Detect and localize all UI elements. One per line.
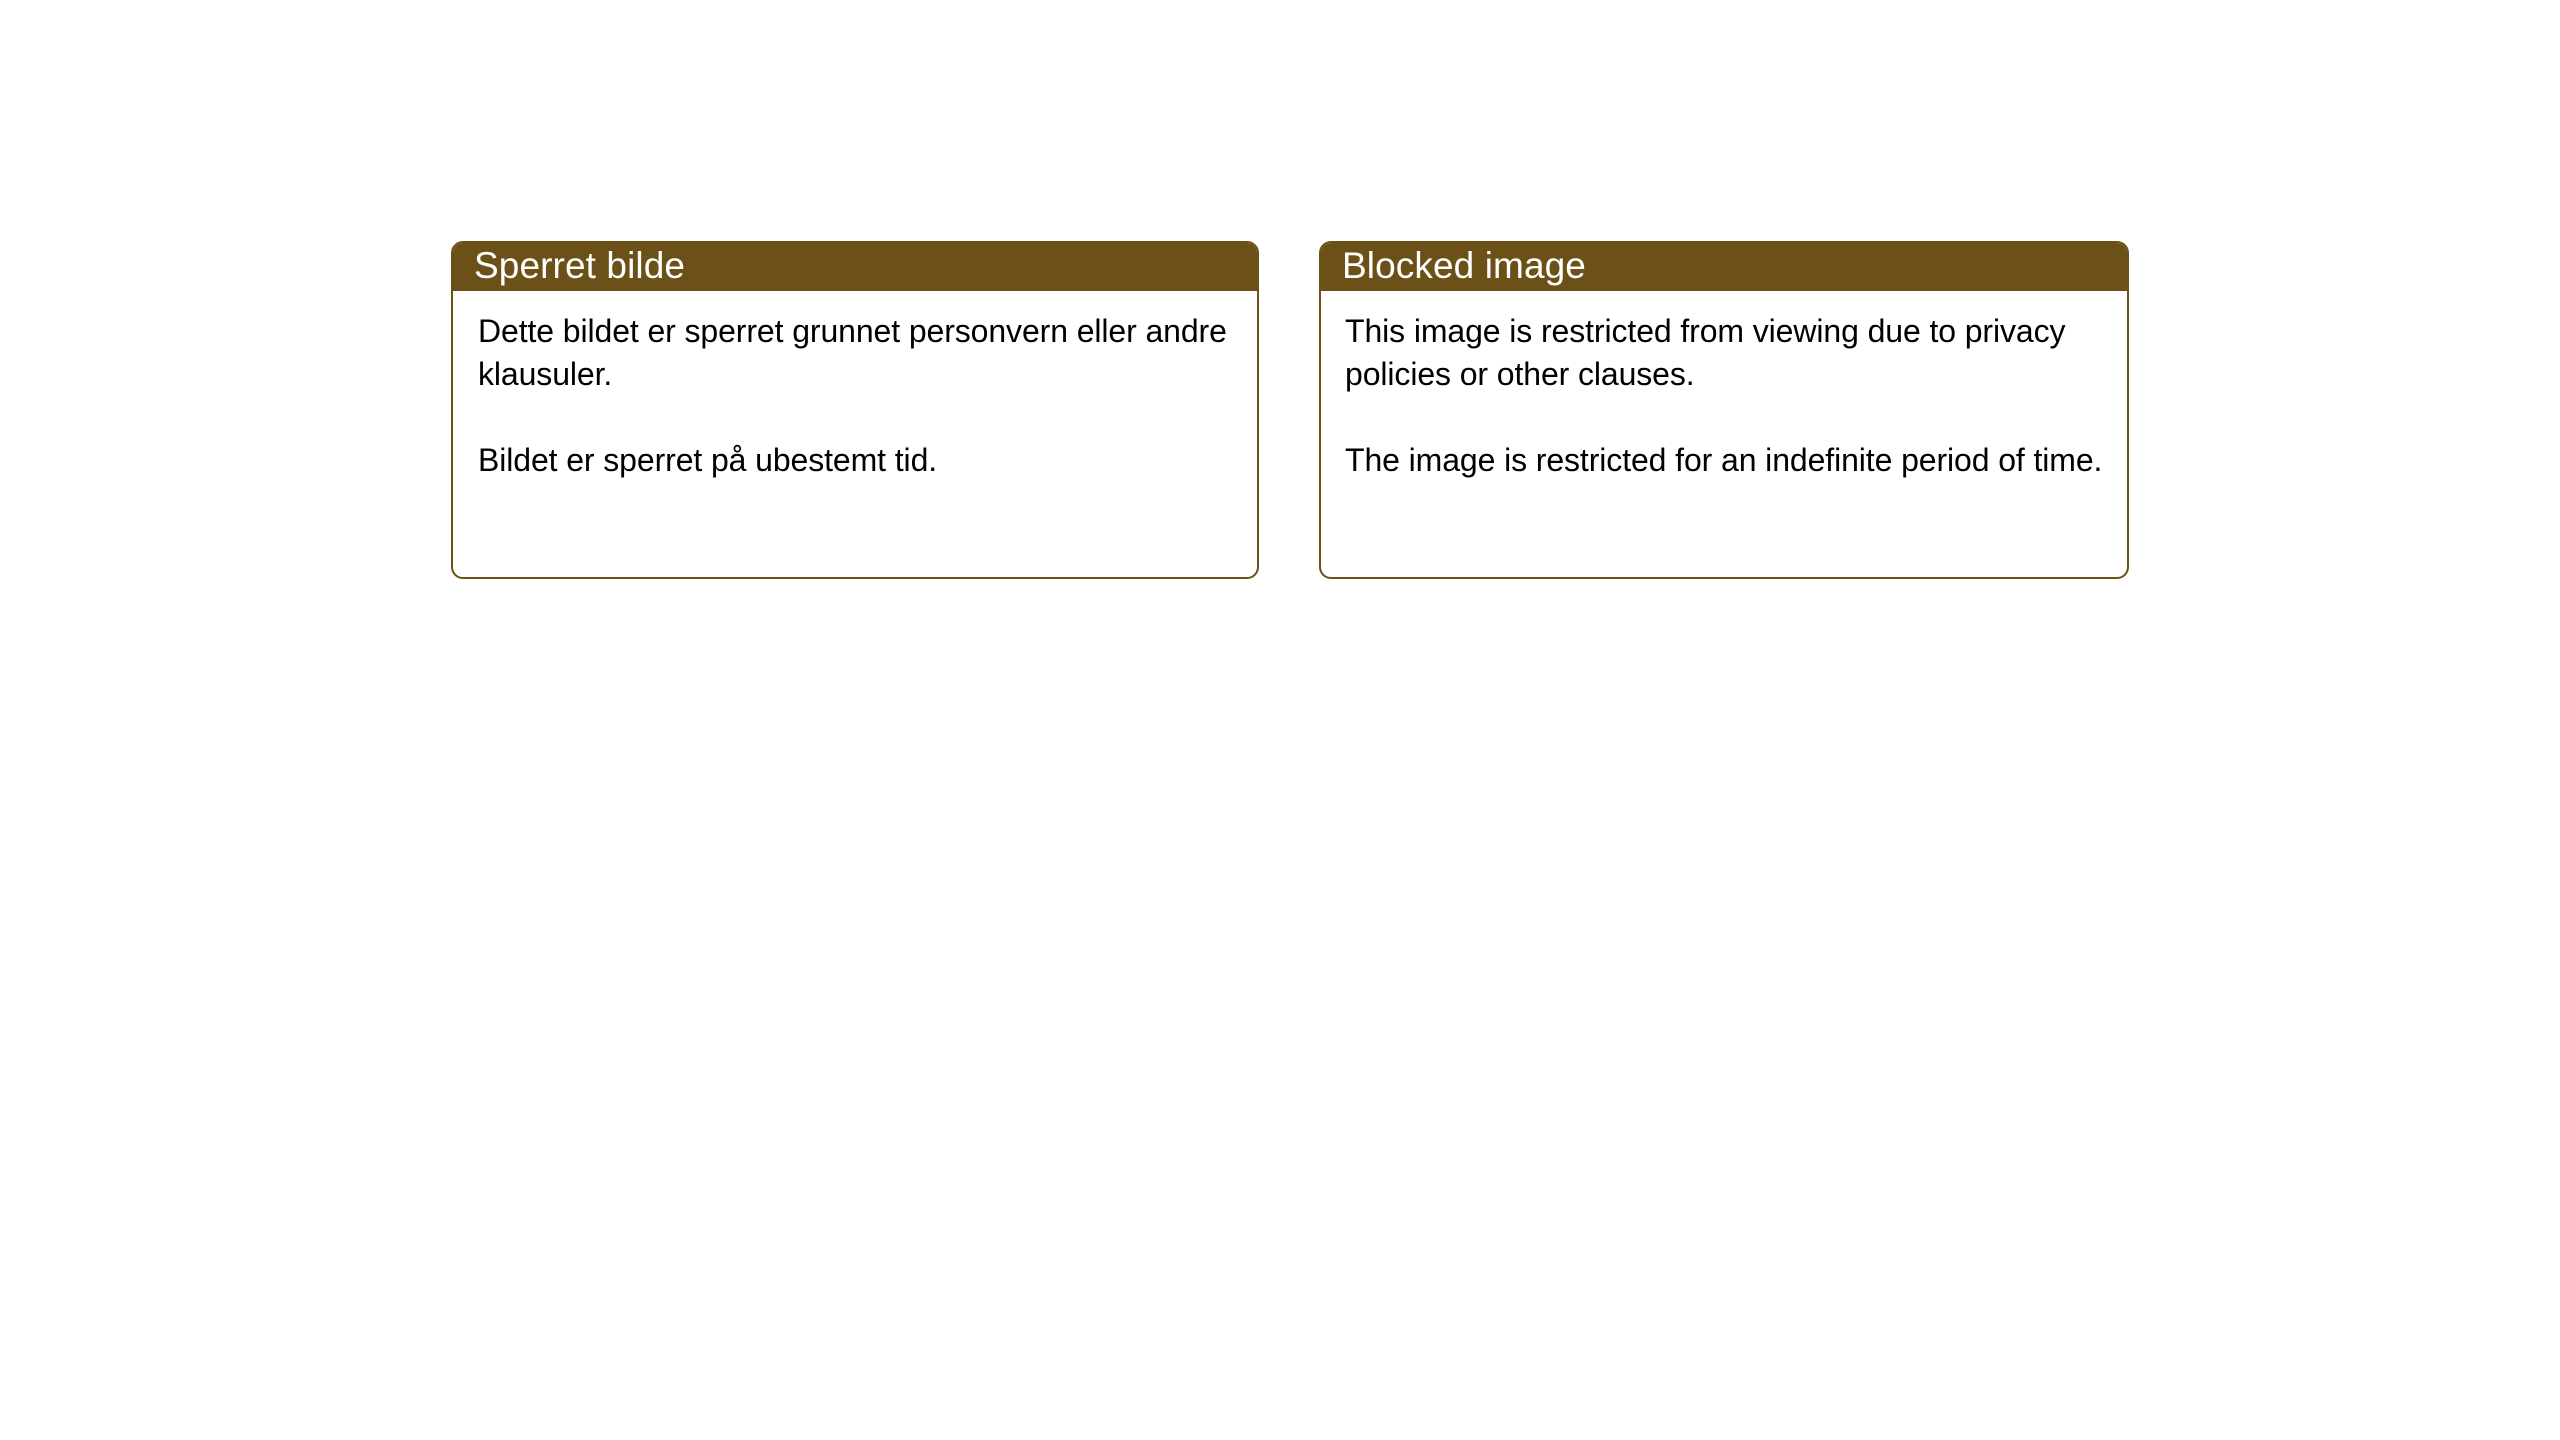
card-title-english: Blocked image — [1342, 247, 1586, 284]
card-paragraph-secondary-english: The image is restricted for an indefinit… — [1345, 439, 2113, 482]
card-header-norwegian: Sperret bilde — [451, 241, 1259, 291]
blocked-image-card-english: Blocked image This image is restricted f… — [1319, 241, 2129, 579]
blocked-image-card-norwegian: Sperret bilde Dette bildet er sperret gr… — [451, 241, 1259, 579]
card-paragraph-primary-english: This image is restricted from viewing du… — [1345, 310, 2113, 396]
page-root: Sperret bilde Dette bildet er sperret gr… — [0, 0, 2560, 1440]
card-paragraph-secondary-norwegian: Bildet er sperret på ubestemt tid. — [478, 439, 1235, 482]
card-paragraph-primary-norwegian: Dette bildet er sperret grunnet personve… — [478, 310, 1235, 396]
card-body-english: This image is restricted from viewing du… — [1321, 291, 2127, 482]
card-title-norwegian: Sperret bilde — [474, 247, 685, 284]
card-header-english: Blocked image — [1319, 241, 2129, 291]
card-body-norwegian: Dette bildet er sperret grunnet personve… — [453, 291, 1257, 482]
